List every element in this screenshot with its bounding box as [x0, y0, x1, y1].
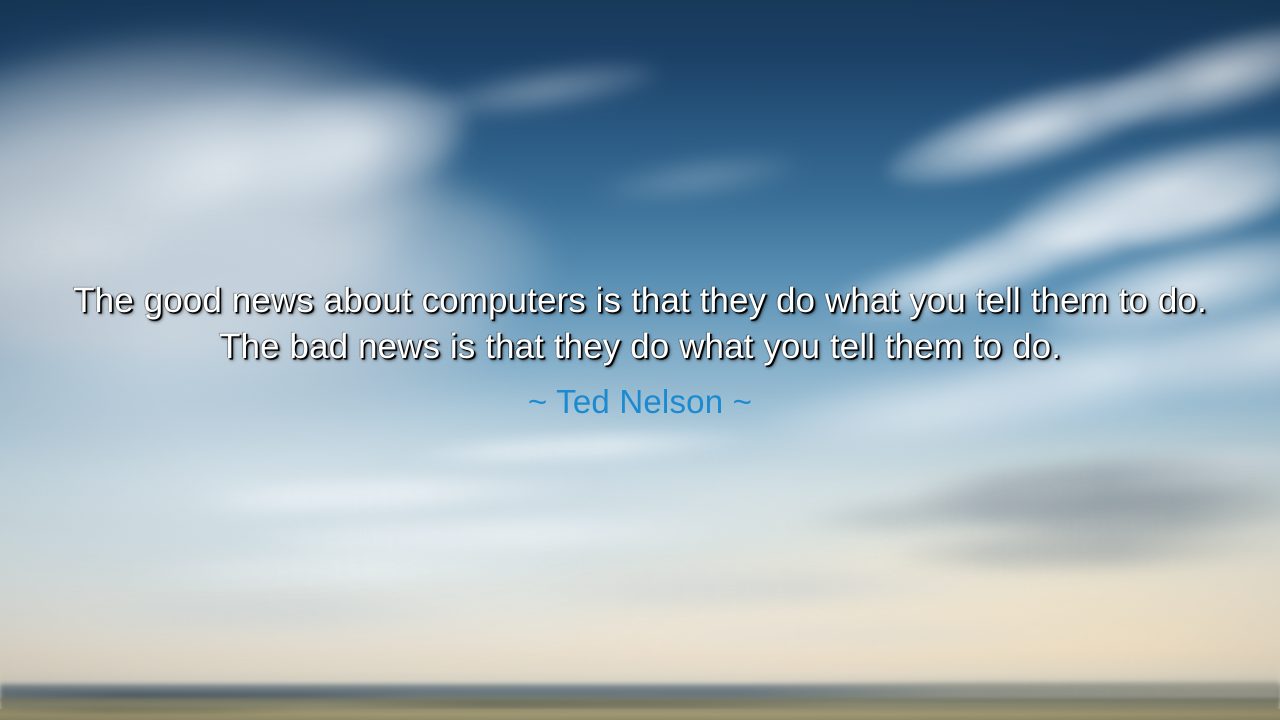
land-texture-2: [330, 700, 850, 708]
quote-author: ~ Ted Nelson ~: [60, 382, 1220, 422]
quote-text: The good news about computers is that th…: [60, 278, 1220, 370]
quote-wallpaper: The good news about computers is that th…: [0, 0, 1280, 720]
quote-block: The good news about computers is that th…: [0, 278, 1280, 422]
land-texture-3: [0, 706, 300, 714]
